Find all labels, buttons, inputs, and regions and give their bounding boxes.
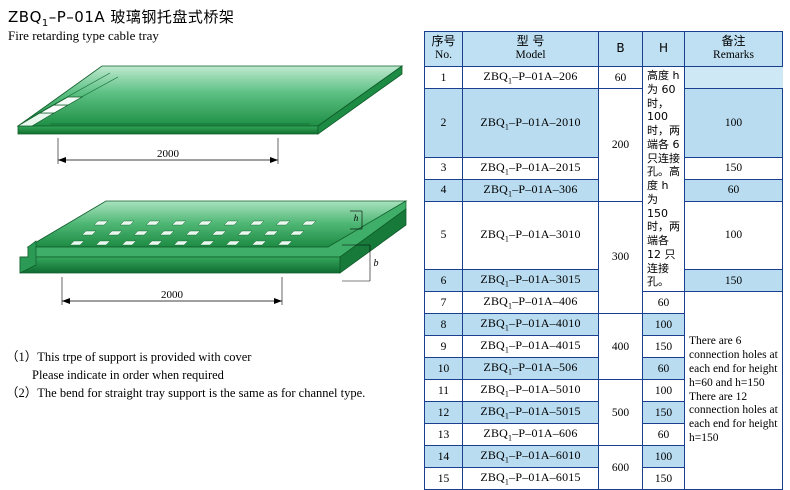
cell-no: 15	[425, 468, 463, 490]
table-row: 2ZBQ1–P–01A–2010200100	[425, 89, 783, 158]
cell-h: 100	[643, 314, 685, 336]
cell-remarks-en: There are 6 connection holes at each end…	[685, 292, 783, 490]
note-2-marker: （2）	[6, 386, 37, 400]
cell-model: ZBQ1–P–01A–6010	[463, 446, 599, 468]
table-header-row: 序号 No. 型 号 Model B H 备注 Remarks	[425, 32, 783, 67]
cell-no: 13	[425, 424, 463, 446]
model-prefix: ZBQ	[480, 316, 505, 330]
cell-b: 300	[599, 201, 643, 314]
cell-b: 500	[599, 380, 643, 446]
model-suffix: –P–01A–3015	[509, 272, 581, 286]
drawing-perforated-tray: h b 2000	[10, 195, 410, 335]
model-suffix: –P–01A–6010	[509, 448, 581, 462]
cell-model: ZBQ1–P–01A–506	[463, 358, 599, 380]
model-prefix: ZBQ	[480, 160, 505, 174]
model-prefix: ZBQ	[480, 338, 505, 352]
cell-h: 100	[643, 380, 685, 402]
model-prefix: ZBQ	[483, 360, 508, 374]
cell-model: ZBQ1–P–01A–406	[463, 292, 599, 314]
cell-h: 60	[643, 424, 685, 446]
header-model-en: Model	[463, 49, 598, 62]
cell-model: ZBQ1–P–01A–206	[463, 67, 599, 89]
cell-model: ZBQ1–P–01A–306	[463, 179, 599, 201]
cell-h: 100	[643, 446, 685, 468]
model-prefix: ZBQ	[480, 382, 505, 396]
cell-no: 10	[425, 358, 463, 380]
cell-h: 100	[685, 201, 783, 270]
model-suffix: –P–01A–2015	[509, 160, 581, 174]
cell-no: 14	[425, 446, 463, 468]
cell-model: ZBQ1–P–01A–5015	[463, 402, 599, 424]
cell-h: 60	[643, 292, 685, 314]
note-2: （2）The bend for straight tray support is…	[6, 384, 421, 402]
header-no: 序号 No.	[425, 32, 463, 67]
cell-no: 5	[425, 201, 463, 270]
model-prefix: ZBQ	[480, 115, 505, 129]
cell-model: ZBQ1–P–01A–5010	[463, 380, 599, 402]
cell-no: 9	[425, 336, 463, 358]
header-model: 型 号 Model	[463, 32, 599, 67]
cell-no: 3	[425, 157, 463, 179]
note-1-marker: （1）	[6, 350, 37, 364]
cell-model: ZBQ1–P–01A–3015	[463, 270, 599, 292]
cell-b: 400	[599, 314, 643, 380]
cell-no: 7	[425, 292, 463, 314]
model-suffix: –P–01A–606	[512, 426, 577, 440]
notes-block: （1）This trpe of support is provided with…	[6, 348, 421, 402]
table-row: 1ZBQ1–P–01A–20660高度 h 为 60 时，100 时，两端各 6…	[425, 67, 783, 89]
cell-model: ZBQ1–P–01A–4015	[463, 336, 599, 358]
model-suffix: –P–01A–5010	[509, 382, 581, 396]
model-suffix: –P–01A–2010	[509, 115, 581, 129]
cell-model: ZBQ1–P–01A–3010	[463, 201, 599, 270]
model-suffix: –P–01A–3010	[509, 227, 581, 241]
spec-table: 序号 No. 型 号 Model B H 备注 Remarks 1ZBQ1–P–…	[424, 31, 783, 490]
cell-model: ZBQ1–P–01A–4010	[463, 314, 599, 336]
cell-model: ZBQ1–P–01A–606	[463, 424, 599, 446]
table-row: 5ZBQ1–P–01A–3010300100	[425, 201, 783, 270]
model-suffix: –P–01A–506	[512, 360, 577, 374]
model-prefix: ZBQ	[480, 227, 505, 241]
dimension-bottom-2000: 2000	[161, 289, 184, 301]
header-h: H	[643, 32, 685, 67]
note-1-cont: Please indicate in order when required	[6, 366, 421, 384]
model-suffix: –P–01A–306	[512, 182, 577, 196]
cell-no: 6	[425, 270, 463, 292]
cell-h: 150	[643, 336, 685, 358]
note-1: （1）This trpe of support is provided with…	[6, 348, 421, 366]
cell-no: 12	[425, 402, 463, 424]
title-cn-pre: ZBQ	[8, 8, 42, 26]
cell-h: 150	[685, 270, 783, 292]
cell-h: 60	[599, 67, 643, 89]
cell-model: ZBQ1–P–01A–6015	[463, 468, 599, 490]
left-column: ZBQ1–P–01A 玻璃钢托盘式桥架 Fire retarding type …	[0, 0, 420, 417]
header-b: B	[599, 32, 643, 67]
cell-h: 150	[685, 157, 783, 179]
header-no-en: No.	[425, 49, 462, 62]
model-suffix: –P–01A–6015	[509, 470, 581, 484]
header-remarks-en: Remarks	[685, 49, 782, 62]
model-prefix: ZBQ	[480, 404, 505, 418]
model-prefix: ZBQ	[480, 448, 505, 462]
model-suffix: –P–01A–4010	[509, 316, 581, 330]
model-suffix: –P–01A–406	[512, 294, 577, 308]
cell-model: ZBQ1–P–01A–2015	[463, 157, 599, 179]
cell-no: 11	[425, 380, 463, 402]
note-1-text: This trpe of support is provided with co…	[37, 350, 251, 364]
drawing-tray-with-cover: 2000	[10, 52, 410, 197]
model-prefix: ZBQ	[483, 294, 508, 308]
cell-b: 200	[599, 89, 643, 202]
page: ZBQ1–P–01A 玻璃钢托盘式桥架 Fire retarding type …	[0, 0, 790, 417]
cell-no: 1	[425, 67, 463, 89]
dimension-top-2000: 2000	[157, 148, 180, 160]
cell-no: 2	[425, 89, 463, 158]
page-title-en: Fire retarding type cable tray	[8, 28, 159, 44]
model-suffix: –P–01A–5015	[509, 404, 581, 418]
model-prefix: ZBQ	[480, 272, 505, 286]
header-remarks: 备注 Remarks	[685, 32, 783, 67]
model-prefix: ZBQ	[483, 69, 508, 83]
spec-table-wrap: 序号 No. 型 号 Model B H 备注 Remarks 1ZBQ1–P–…	[424, 31, 782, 490]
header-no-cn: 序号	[425, 35, 462, 49]
model-prefix: ZBQ	[483, 182, 508, 196]
cell-model: ZBQ1–P–01A–2010	[463, 89, 599, 158]
cell-no: 4	[425, 179, 463, 201]
cell-h: 100	[685, 89, 783, 158]
cell-b: 600	[599, 446, 643, 490]
model-suffix: –P–01A–206	[512, 69, 577, 83]
cell-no: 8	[425, 314, 463, 336]
cell-h: 60	[685, 179, 783, 201]
model-suffix: –P–01A–4015	[509, 338, 581, 352]
cell-h: 150	[643, 402, 685, 424]
cell-h: 150	[643, 468, 685, 490]
note-2-text: The bend for straight tray support is th…	[37, 386, 365, 400]
model-prefix: ZBQ	[480, 470, 505, 484]
cell-h: 60	[643, 358, 685, 380]
header-remarks-cn: 备注	[685, 35, 782, 49]
label-b: b	[374, 258, 379, 269]
cell-remarks-cn: 高度 h 为 60 时，100 时，两端各 6 只连接孔。高度 h 为 150 …	[643, 67, 685, 292]
table-body: 1ZBQ1–P–01A–20660高度 h 为 60 时，100 时，两端各 6…	[425, 67, 783, 490]
table-head: 序号 No. 型 号 Model B H 备注 Remarks	[425, 32, 783, 67]
page-title-cn: ZBQ1–P–01A 玻璃钢托盘式桥架	[8, 6, 234, 29]
title-cn-post: –P–01A 玻璃钢托盘式桥架	[49, 8, 235, 26]
model-prefix: ZBQ	[483, 426, 508, 440]
header-model-cn: 型 号	[463, 35, 598, 49]
label-h: h	[354, 213, 359, 223]
